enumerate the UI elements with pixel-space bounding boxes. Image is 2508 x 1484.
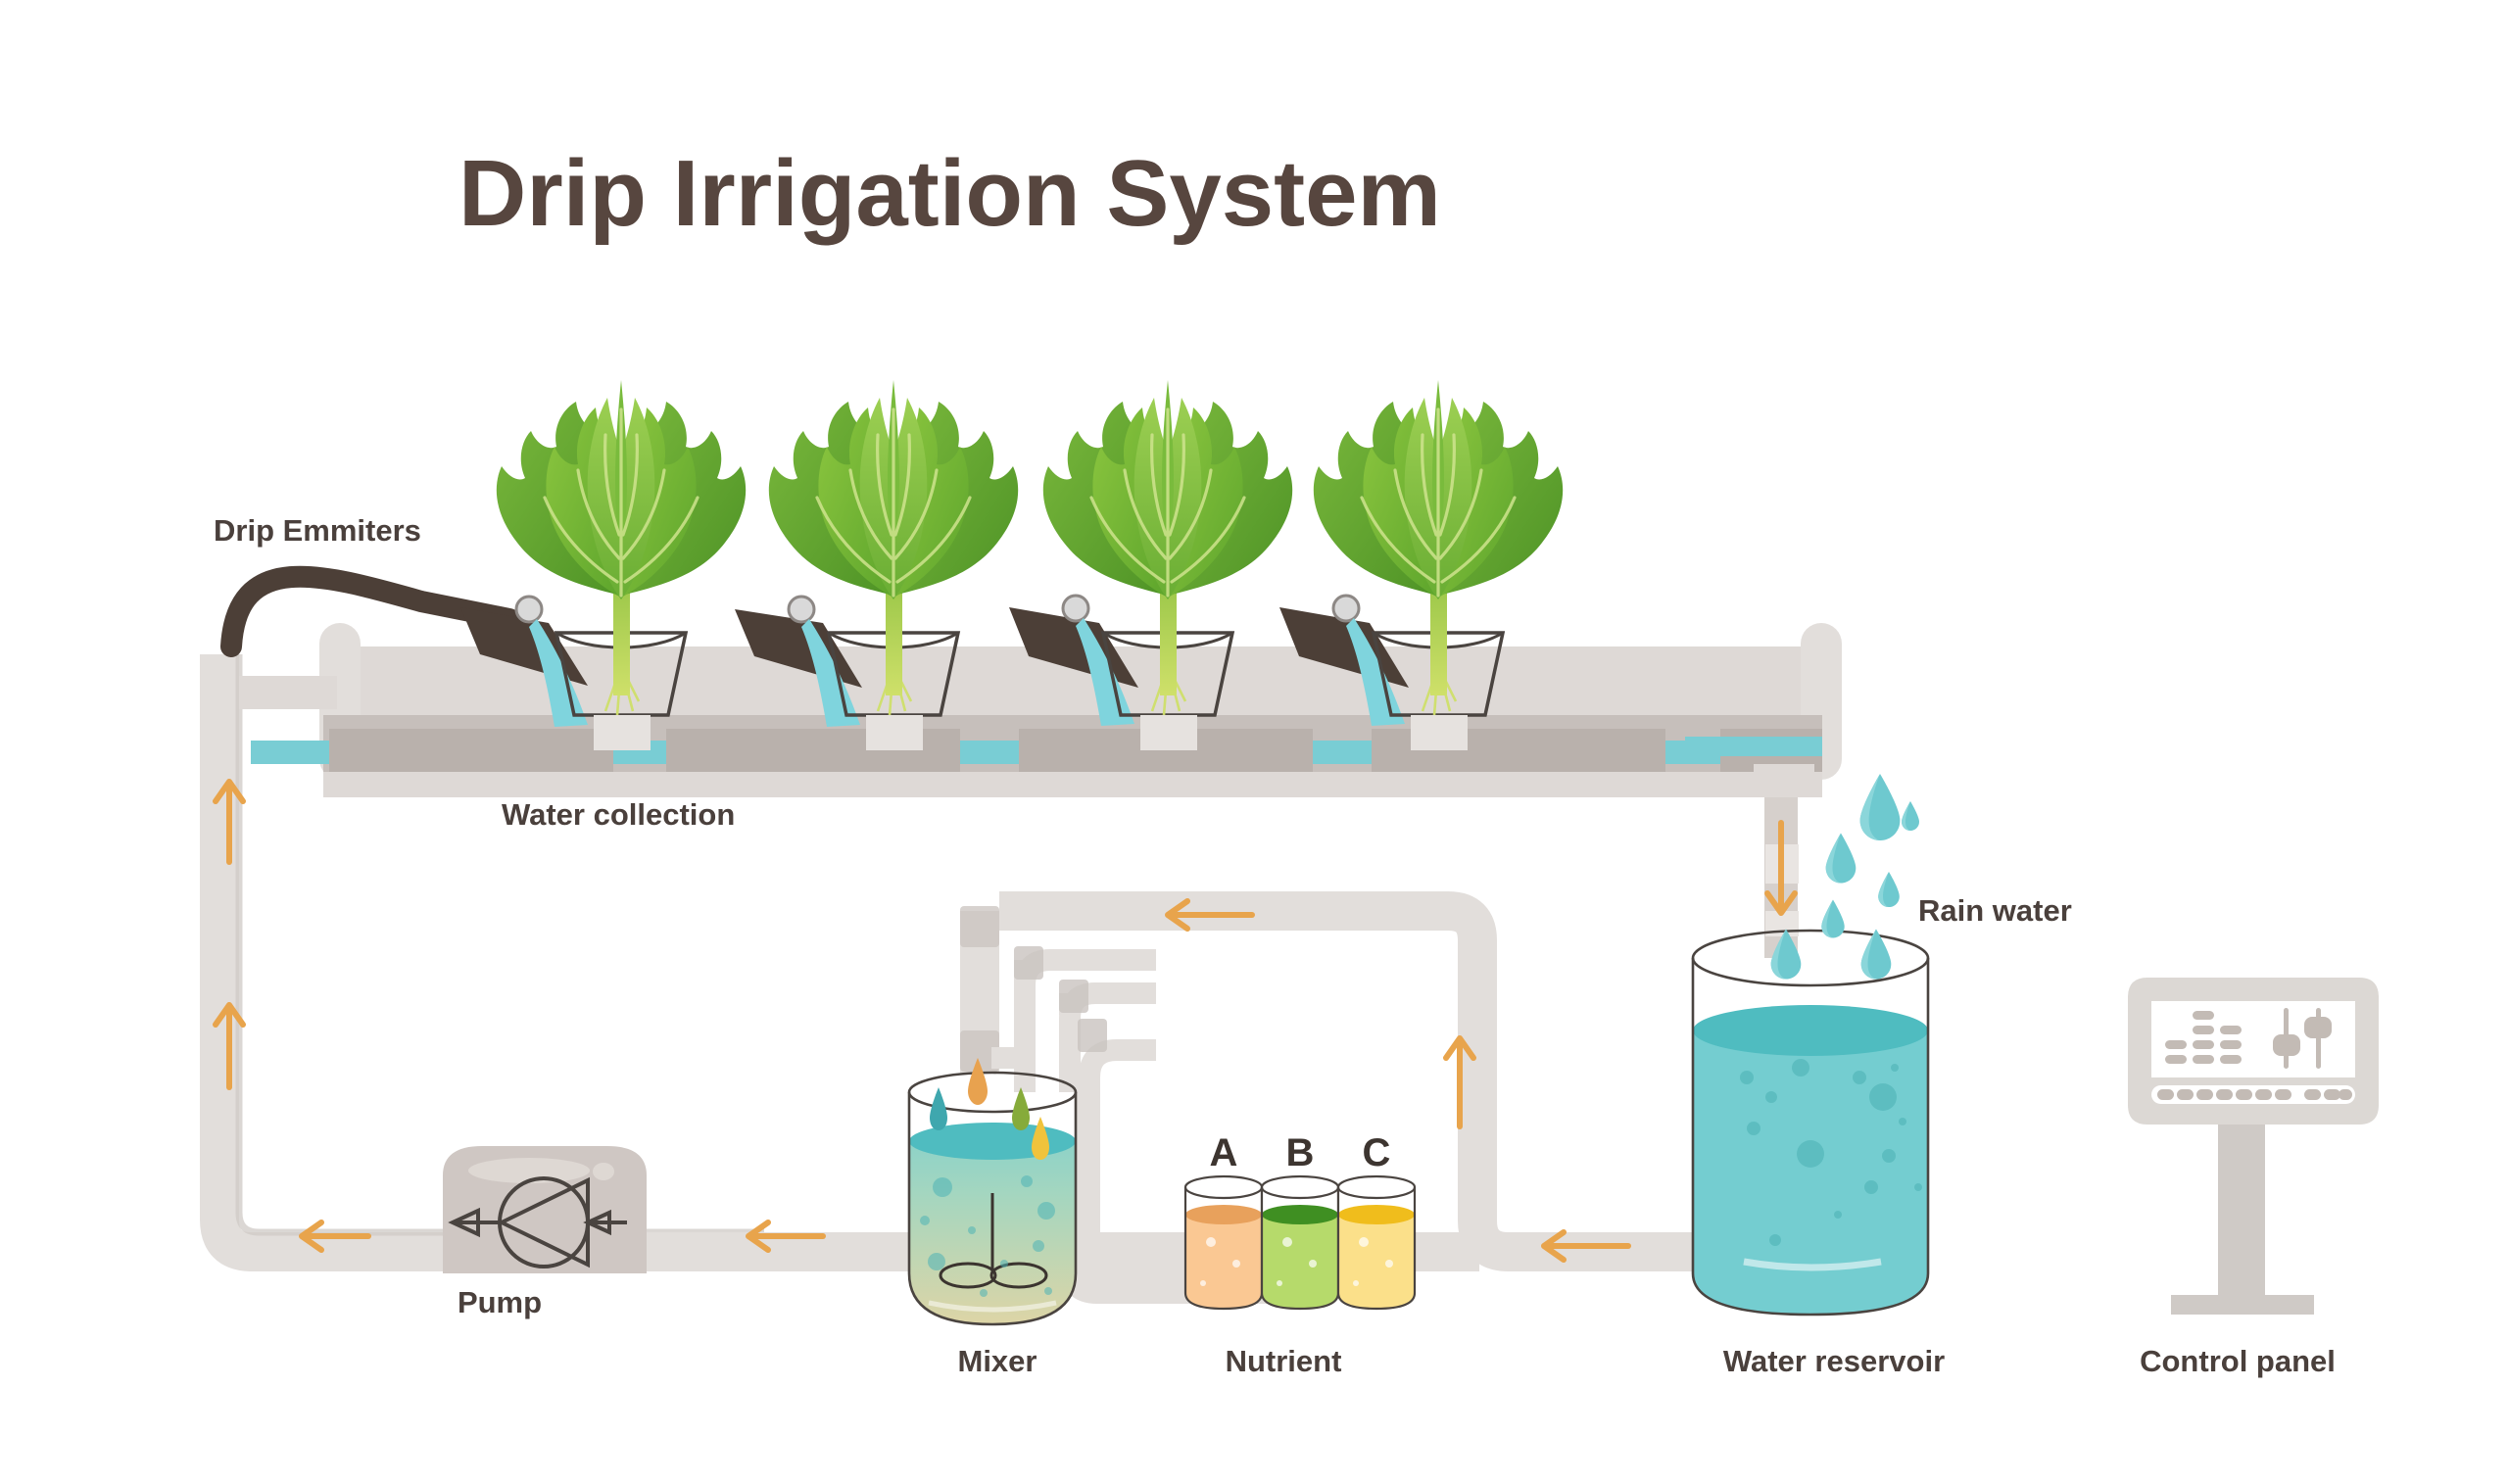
page-title: Drip Irrigation System: [458, 141, 1441, 246]
trough-bay: [329, 729, 613, 774]
water-strip: [251, 741, 329, 764]
bottle-b-liquid: [1262, 1215, 1338, 1309]
label-control-panel: Control panel: [2140, 1344, 2336, 1378]
label-mixer: Mixer: [958, 1344, 1037, 1378]
bed-left-connector: [239, 676, 337, 709]
label-pump: Pump: [458, 1285, 542, 1319]
panel-stand: [2218, 1125, 2265, 1301]
panel-screen: [2151, 1001, 2355, 1077]
rain-drop: [1902, 801, 1919, 831]
bed-bottom-rail: [323, 772, 1822, 797]
nutrient-bottles[interactable]: [1185, 1176, 1415, 1309]
drip-emitter-head: [1333, 596, 1359, 621]
tube-joint-a: [1078, 1019, 1107, 1052]
bottle-a-liquid: [1185, 1215, 1262, 1309]
label-water-collection: Water collection: [502, 797, 735, 832]
label-bottle-b: B: [1286, 1131, 1315, 1174]
label-drip-emitters: Drip Emmiters: [214, 513, 421, 548]
reservoir-water: [1693, 1030, 1928, 1315]
plant-stem-1: [613, 588, 630, 695]
bed-trough-bays: [329, 729, 1822, 774]
slider-knob-1: [2273, 1034, 2300, 1056]
water-strip-right: [1685, 737, 1822, 756]
rain-drop: [1826, 834, 1857, 884]
reservoir-water-surface: [1693, 1005, 1928, 1056]
drip-emitter-head: [1063, 596, 1088, 621]
bottle-a-surface: [1185, 1205, 1262, 1224]
label-rain-water: Rain water: [1918, 893, 2072, 928]
label-bottle-c: C: [1363, 1131, 1391, 1174]
control-panel-unit[interactable]: [2128, 978, 2379, 1315]
drip-irrigation-diagram: Drip Irrigation System: [0, 0, 2508, 1484]
bed-right-connector: [1754, 764, 1814, 797]
drip-emitter-head: [516, 597, 542, 622]
panel-base: [2171, 1295, 2314, 1315]
water-strip: [960, 741, 1019, 764]
pipe-joint-top: [960, 906, 999, 947]
rain-drop: [1821, 900, 1844, 938]
plant-stem-2: [886, 588, 902, 695]
nutrient-bottle-b: [1262, 1176, 1338, 1309]
diagram-canvas: Drip Irrigation System: [0, 0, 2508, 1484]
nutrient-bottle-a: [1185, 1176, 1262, 1309]
mixer-unit[interactable]: [909, 1058, 1076, 1324]
label-bottle-a: A: [1210, 1131, 1238, 1174]
bottle-c-surface: [1338, 1205, 1415, 1224]
label-nutrient: Nutrient: [1226, 1344, 1342, 1378]
lettuce-plant-1: [497, 380, 746, 599]
bottle-c-liquid: [1338, 1215, 1415, 1309]
lettuce-plant-4: [1314, 380, 1563, 599]
lettuce-plant-3: [1043, 380, 1292, 599]
water-reservoir-unit[interactable]: [1693, 931, 1928, 1315]
slider-knob-2: [2304, 1017, 2332, 1038]
pump-unit[interactable]: [443, 1146, 647, 1273]
rain-drop: [1878, 872, 1900, 907]
pump-dot: [593, 1163, 614, 1180]
tube-joint-c: [1014, 946, 1043, 980]
rain-drop: [1860, 774, 1901, 840]
plant-stem-3: [1160, 588, 1177, 695]
lettuce-plant-2: [769, 380, 1018, 599]
bottle-b-surface: [1262, 1205, 1338, 1224]
label-water-reservoir: Water reservoir: [1723, 1344, 1945, 1378]
nutrient-bottle-c: [1338, 1176, 1415, 1309]
water-strip: [1313, 741, 1372, 764]
tube-joint-b: [1059, 980, 1088, 1013]
drip-emitter-head: [789, 597, 814, 622]
plant-stem-4: [1430, 588, 1447, 695]
